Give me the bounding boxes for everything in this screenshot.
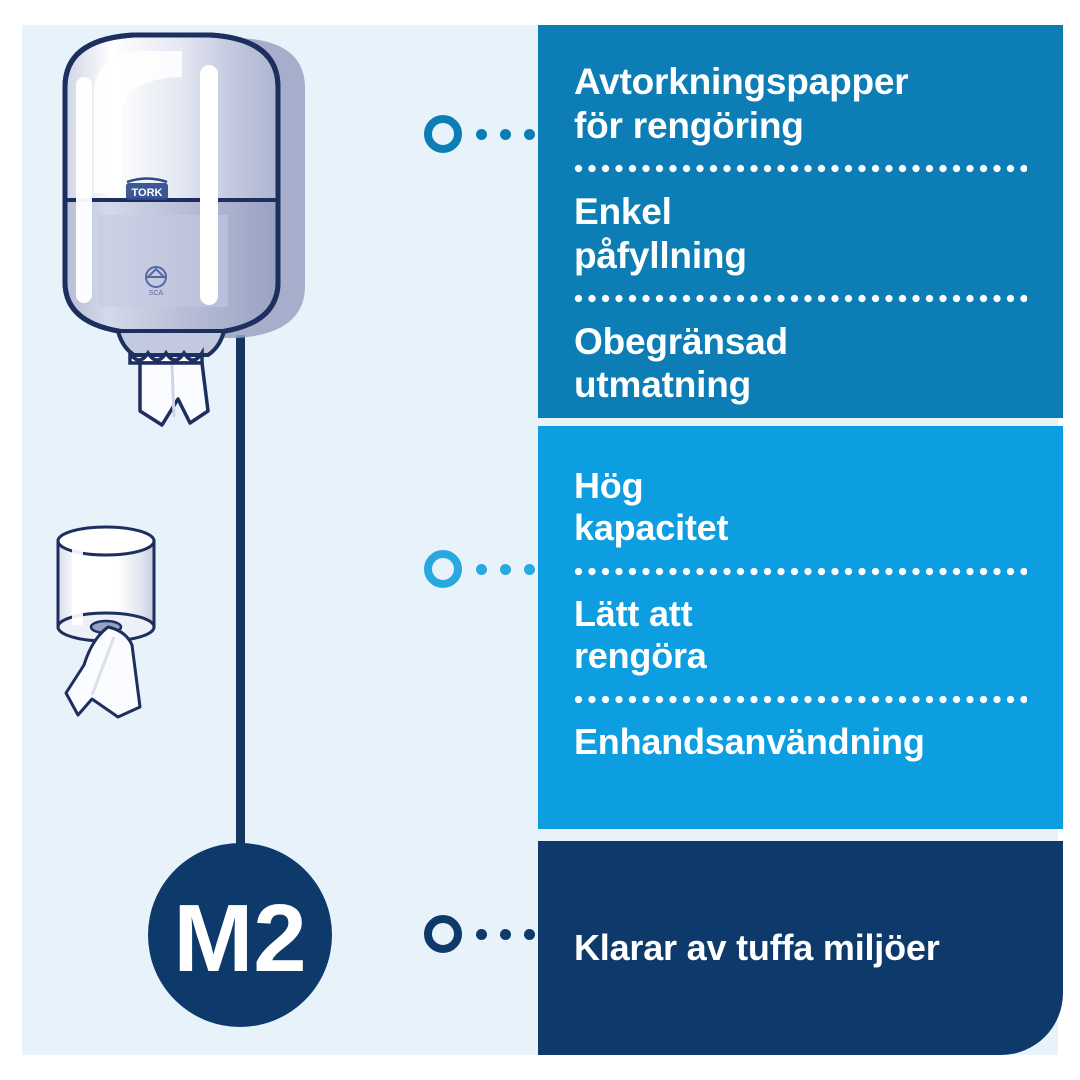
feature-panel-primary: Avtorkningspapper för rengöring Enkel på… (538, 25, 1063, 418)
paper-roll-graphic (58, 527, 154, 717)
feature-divider (574, 164, 1027, 173)
feature-item: Enkel påfyllning (574, 181, 1027, 288)
feature-divider (574, 567, 1027, 576)
m2-badge-label: M2 (173, 885, 306, 992)
dispenser-graphic: TORK SCA (65, 35, 305, 425)
feature-item: Hög kapacitet (574, 456, 1027, 561)
feature-item: Avtorkningspapper för rengöring (574, 51, 1027, 158)
feature-panel-secondary: Hög kapacitet Lätt att rengöra Enhandsan… (538, 426, 1063, 829)
feature-divider (574, 294, 1027, 303)
feature-item: Enhandsanvändning (574, 712, 1027, 774)
feature-item: Klarar av tuffa miljöer (574, 927, 1027, 969)
feature-item: Obegränsad utmatning (574, 311, 1027, 418)
connector-ring-icon (424, 115, 462, 153)
connector-ring-icon (424, 915, 462, 953)
gloss-stripe (200, 65, 218, 305)
product-illustration: TORK SCA (22, 25, 442, 1055)
roll-paper-tail (66, 627, 140, 717)
infographic-root: TORK SCA (0, 0, 1080, 1080)
tork-logo-text: TORK (132, 187, 163, 199)
feature-panel-tertiary: Klarar av tuffa miljöer (538, 841, 1063, 1055)
connector-ring-icon (424, 550, 462, 588)
feature-divider (574, 695, 1027, 704)
feature-item: Lätt att rengöra (574, 584, 1027, 689)
sca-mark-text: SCA (149, 290, 164, 297)
m2-badge: M2 (148, 843, 332, 1027)
